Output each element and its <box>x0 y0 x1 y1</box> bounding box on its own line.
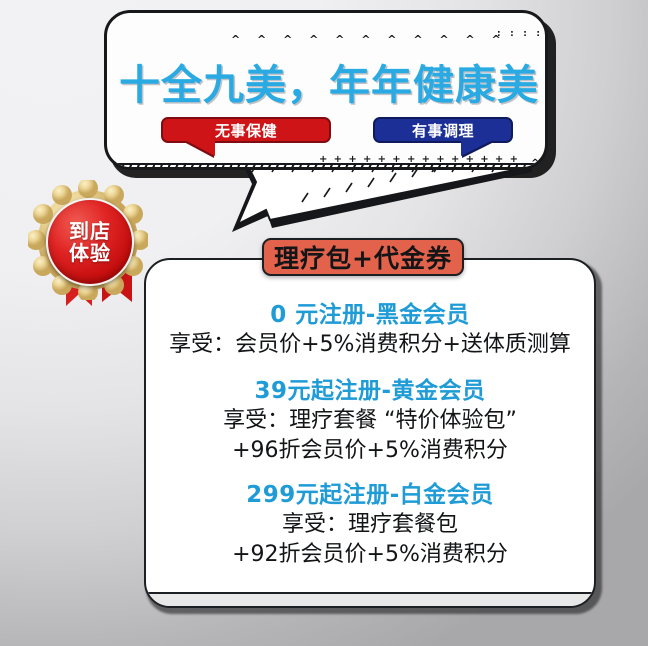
poster-canvas: ^ ^ ^ ^ ^ ^ ^ ^ ^ ^ ^ : : : : : : : : : … <box>0 0 648 646</box>
tier-black-gold-line-1: 享受：会员价+5%消费积分+送体质测算 <box>150 330 590 360</box>
in-store-experience-badge[interactable]: 到店 体验 <box>24 176 156 308</box>
tag-condition-therapy-label: 有事调理 <box>412 120 474 141</box>
tier-gold-line-2: +96折会员价+5%消费积分 <box>150 436 590 466</box>
tag-red-tail-icon <box>175 140 215 156</box>
bubble-hatched-base <box>109 163 548 170</box>
tier-black-gold[interactable]: 0 元注册-黑金会员 享受：会员价+5%消费积分+送体质测算 <box>150 300 590 360</box>
headline-speech-bubble: ^ ^ ^ ^ ^ ^ ^ ^ ^ ^ ^ : : : : : : : : : … <box>104 8 556 228</box>
dot-decoration-top-right: : : : : : : : : : : : : : : : : : <box>497 31 548 38</box>
tag-condition-therapy[interactable]: 有事调理 <box>373 117 513 143</box>
tier-black-gold-title: 0 元注册-黑金会员 <box>150 300 590 330</box>
tier-platinum-title: 299元起注册-白金会员 <box>150 480 590 510</box>
tier-platinum-line-1: 享受：理疗套餐包 <box>150 510 590 540</box>
tier-platinum[interactable]: 299元起注册-白金会员 享受：理疗套餐包 +92折会员价+5%消费积分 <box>150 480 590 570</box>
caret-decoration-top-left: ^ ^ ^ ^ ^ ^ ^ ^ ^ ^ ^ <box>231 35 507 44</box>
plus-decoration-bottom-left: + + + + + + + + + + + + + + <box>319 156 411 163</box>
badge-line-2: 体验 <box>69 242 111 264</box>
tier-gold[interactable]: 39元起注册-黄金会员 享受：理疗套餐 “特价体验包” +96折会员价+5%消费… <box>150 376 590 466</box>
offer-header-pill[interactable]: 理疗包+代金券 <box>262 238 464 276</box>
card-base-strip <box>148 592 596 606</box>
badge-center-disc: 到店 体验 <box>46 198 134 286</box>
tier-gold-line-1: 享受：理疗套餐 “特价体验包” <box>150 406 590 436</box>
bubble-body: ^ ^ ^ ^ ^ ^ ^ ^ ^ ^ ^ : : : : : : : : : … <box>104 10 548 170</box>
headline-title: 十全九美，年年健康美 <box>107 51 548 111</box>
membership-tier-list: 0 元注册-黑金会员 享受：会员价+5%消费积分+送体质测算 39元起注册-黄金… <box>150 300 590 580</box>
offer-header-label: 理疗包+代金券 <box>274 239 452 275</box>
tag-health-maintenance[interactable]: 无事保健 <box>161 117 331 143</box>
tier-platinum-line-2: +92折会员价+5%消费积分 <box>150 540 590 570</box>
badge-line-1: 到店 <box>69 220 111 242</box>
tier-gold-title: 39元起注册-黄金会员 <box>150 376 590 406</box>
tag-health-maintenance-label: 无事保健 <box>215 120 277 141</box>
